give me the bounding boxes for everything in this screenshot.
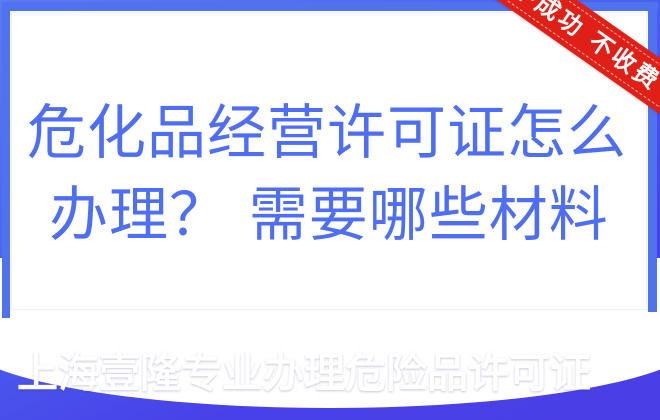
frame-bar-top bbox=[2, 2, 658, 11]
headline: 危化品经营许可证怎么 办理？ 需要哪些材料 bbox=[0, 92, 660, 256]
headline-line-1: 危化品经营许可证怎么 bbox=[0, 92, 660, 174]
poster-root: 危化品经营许可证怎么 办理？ 需要哪些材料 不成功 不收费 上海壹隆专业办理危险… bbox=[0, 0, 660, 420]
bottom-banner-text: 上海壹隆专业办理危险品许可证 bbox=[0, 342, 660, 404]
headline-line-2: 办理？ 需要哪些材料 bbox=[0, 174, 660, 256]
